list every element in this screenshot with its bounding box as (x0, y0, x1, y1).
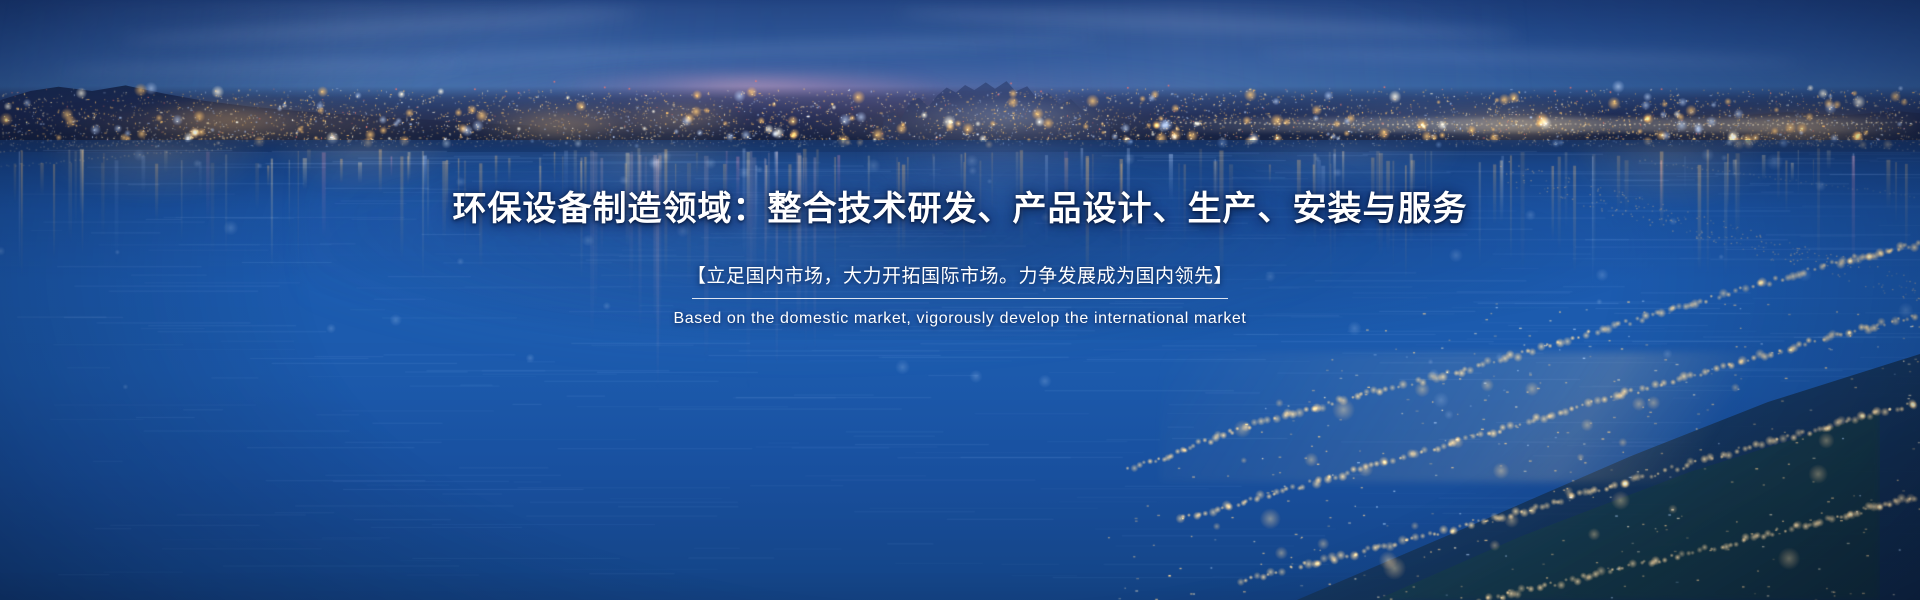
banner-content: 环保设备制造领域：整合技术研发、产品设计、生产、安装与服务 【立足国内市场，大力… (0, 0, 1920, 600)
banner-headline: 环保设备制造领域：整合技术研发、产品设计、生产、安装与服务 (453, 191, 1468, 228)
banner-subtitle-chinese: 【立足国内市场，大力开拓国际市场。力争发展成为国内领先】 (687, 265, 1233, 289)
hero-banner: 环保设备制造领域：整合技术研发、产品设计、生产、安装与服务 【立足国内市场，大力… (0, 0, 1920, 600)
subtitle-divider (692, 298, 1228, 299)
banner-subtitle-block: 【立足国内市场，大力开拓国际市场。力争发展成为国内领先】 Based on th… (674, 265, 1247, 328)
banner-subtitle-english: Based on the domestic market, vigorously… (674, 309, 1247, 328)
